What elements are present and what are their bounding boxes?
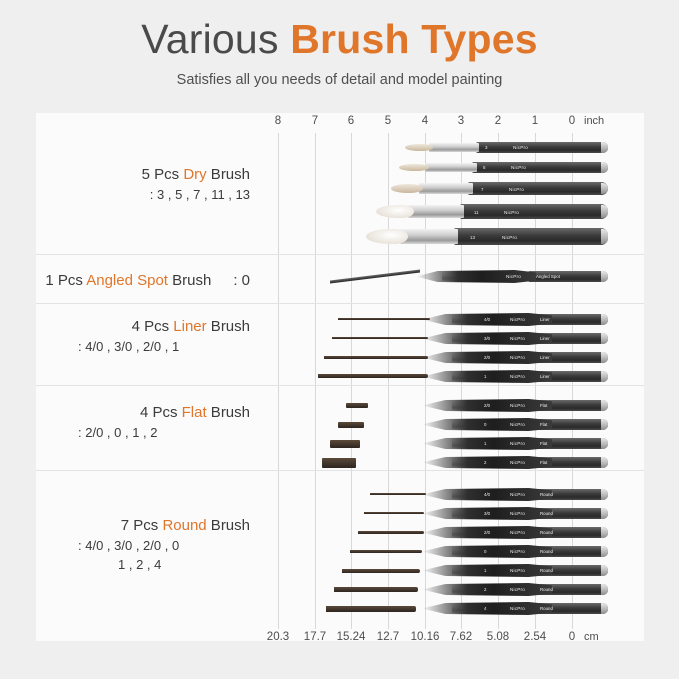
group-label-liner-line2: : 4/0 , 3/0 , 2/0 , 1 [36,337,250,356]
brush-type-tag: Round [540,587,553,592]
brush-size-tag: 2 [484,460,486,465]
brush-belly [422,437,552,450]
ruler-top-tick-0: 0 [557,115,587,127]
separator-flat-round [36,470,644,471]
page-title: Various Brush Types [0,16,679,63]
brush-tip [342,569,420,573]
brush-brand: NicPro [510,549,525,554]
brush-liner-3-0: NicPro Liner 3/0 [322,332,608,345]
brush-type-tag: Round [540,530,553,535]
brush-brand: NicPro [502,235,517,240]
brush-brand: NicPro [510,403,525,408]
ruler-top-tick-6: 6 [336,115,366,127]
brush-tip [364,512,424,514]
ruler-top-tick-3: 3 [446,115,476,127]
brush-tip [332,337,428,339]
brush-type-tag: Liner [540,317,550,322]
brush-type-tag: Liner [540,336,550,341]
group-label-dry: 5 Pcs Dry Brush : 3 , 5 , 7 , 11 , 13 [36,165,250,204]
brush-brand: NicPro [506,274,521,279]
brush-brand: NicPro [510,511,525,516]
ruler-bottom-tick-1: 2.54 [515,631,555,643]
brush-size-tag: 2 [484,587,486,592]
brush-belly [422,456,552,469]
brush-endcap [601,352,608,363]
brush-dry-11: NicPro 11 [376,204,608,220]
brush-brand: NicPro [510,530,525,535]
brush-handle [460,204,608,219]
group-label-dry-line1: 5 Pcs Dry Brush [36,165,250,185]
brush-liner-4-0: NicPro Liner 4/0 [324,313,608,326]
poster-root: Various Brush Types Satisfies all you ne… [0,0,679,679]
brush-endcap [601,527,608,538]
brush-belly [422,545,552,558]
brush-liner-1: NicPro Liner 1 [314,370,608,383]
brush-tip [318,374,428,378]
brush-belly [422,583,552,596]
brush-brand: NicPro [513,145,528,150]
brush-brand: NicPro [510,460,525,465]
brush-round-1: NicPro Round 1 [316,564,608,577]
brush-size-tag: 2/0 [484,530,490,535]
brush-dry-7: NicPro 7 [391,182,608,196]
brush-brand: NicPro [504,210,519,215]
brush-brand: NicPro [510,336,525,341]
ruler-top-unit: inch [584,115,624,127]
brush-tip [324,356,428,359]
brush-belly [422,602,552,615]
brush-round-4: NicPro Round 4 [308,602,608,615]
brush-size-tag: 3 [485,145,487,150]
brush-tip [370,493,426,495]
brush-endcap [601,205,608,218]
brush-tip [391,184,423,193]
brush-ferrule [400,229,458,244]
gridline-8in [278,133,279,629]
group-label-flat-line1: 4 Pcs Flat Brush [36,403,250,423]
brush-brand: NicPro [510,374,525,379]
brush-endcap [601,419,608,430]
brush-brand: NicPro [511,165,526,170]
brush-handle [476,142,608,153]
brush-flat-1: NicPro Flat 1 [314,437,608,450]
brush-brand: NicPro [510,606,525,611]
page-subtitle: Satisfies all you needs of detail and mo… [0,72,679,88]
brush-type-tag: Round [540,492,553,497]
brush-brand: NicPro [510,441,525,446]
brush-tip [346,403,368,408]
brush-size-tag: 11 [474,210,479,215]
brush-tip [366,229,408,244]
brush-size-tag: 3/0 [484,336,490,341]
brush-belly [422,564,552,577]
brush-chart-panel: 8 7 6 5 4 3 2 1 0 inch 20.3 17.7 15.24 1… [36,113,644,641]
brush-brand: NicPro [510,422,525,427]
brush-size-tag: 1 [484,568,486,573]
separator-angled-liner [36,303,644,304]
brush-tip [330,269,420,283]
brush-liner-2-0: NicPro Liner 2/0 [318,351,608,364]
group-label-liner: 4 Pcs Liner Brush : 4/0 , 3/0 , 2/0 , 1 [36,317,250,356]
ruler-bottom-tick-2: 5.08 [478,631,518,643]
brush-endcap [601,183,608,194]
brush-round-2-0: NicPro Round 2/0 [324,526,608,539]
brush-tip [350,550,422,553]
title-accent: Brush Types [290,16,538,62]
brush-handle [472,162,608,173]
group-label-flat: 4 Pcs Flat Brush : 2/0 , 0 , 1 , 2 [36,403,250,442]
brush-round-0: NicPro Round 0 [320,545,608,558]
brush-endcap [601,371,608,382]
brush-tip [338,318,430,320]
brush-tip [322,458,356,468]
ruler-top-tick-1: 1 [520,115,550,127]
group-label-round-line1: 7 Pcs Round Brush [36,516,250,536]
brush-endcap [601,584,608,595]
brush-endcap [601,489,608,500]
brush-ferrule [419,183,473,194]
ruler-bottom-tick-6: 15.24 [331,631,371,643]
brush-ferrule [408,205,464,218]
group-label-dry-line2: : 3 , 5 , 7 , 11 , 13 [36,185,250,204]
ruler-top-tick-7: 7 [300,115,330,127]
group-label-round-line2: : 4/0 , 3/0 , 2/0 , 0 [36,536,250,555]
brush-tip [330,440,360,448]
title-plain: Various [141,16,290,62]
brush-belly [422,370,552,383]
brush-type-tag: Flat [540,441,547,446]
brush-tip [405,144,433,151]
brush-type-tag: Round [540,511,553,516]
brush-ferrule [429,143,479,152]
brush-type-tag: Angled Spot [536,274,560,279]
brush-endcap [601,162,608,173]
brush-round-3-0: NicPro Round 3/0 [326,507,608,520]
brush-size-tag: 4/0 [484,492,490,497]
brush-type-tag: Round [540,606,553,611]
brush-type-tag: Round [540,568,553,573]
brush-brand: NicPro [510,355,525,360]
brush-endcap [601,271,608,282]
ruler-top-tick-4: 4 [410,115,440,127]
brush-size-tag: 5 [483,165,485,170]
separator-dry-angled [36,254,644,255]
brush-type-tag: Round [540,549,553,554]
group-label-angled-spot-line1: 1 Pcs Angled Spot Brush: 0 [36,271,250,291]
ruler-top-tick-2: 2 [483,115,513,127]
brush-type-tag: Liner [540,374,550,379]
group-label-angled-spot: 1 Pcs Angled Spot Brush: 0 [36,271,250,291]
brush-tip [358,531,424,534]
brush-type-tag: Liner [540,355,550,360]
group-label-round-line3: 1 , 2 , 4 [36,555,250,574]
brush-endcap [601,565,608,576]
brush-ferrule [425,163,477,172]
brush-size-tag: 4 [484,606,486,611]
group-label-flat-line2: : 2/0 , 0 , 1 , 2 [36,423,250,442]
brush-dry-3: NicPro 3 [405,141,608,154]
brush-belly [422,418,552,431]
brush-size-tag: 7 [481,187,483,192]
brush-round-4-0: NicPro Round 4/0 [328,488,608,501]
brush-endcap [601,142,608,153]
brush-tip [338,422,364,428]
group-label-liner-line1: 4 Pcs Liner Brush [36,317,250,337]
ruler-bottom-tick-8: 20.3 [258,631,298,643]
brush-endcap [601,438,608,449]
brush-size-tag: 13 [470,235,475,240]
brush-flat-2: NicPro Flat 2 [310,456,608,469]
brush-endcap [601,457,608,468]
brush-flat-0: NicPro Flat 0 [318,418,608,431]
group-label-round: 7 Pcs Round Brush : 4/0 , 3/0 , 2/0 , 0 … [36,516,250,574]
brush-size-tag: 2/0 [484,355,490,360]
ruler-bottom-tick-3: 7.62 [441,631,481,643]
ruler-top-tick-5: 5 [373,115,403,127]
ruler-bottom-tick-7: 17.7 [295,631,335,643]
brush-endcap [601,314,608,325]
brush-angled-spot-0: NicPro Angled Spot [330,270,608,283]
brush-type-tag: Flat [540,460,547,465]
brush-endcap [601,546,608,557]
ruler-top-tick-8: 8 [263,115,293,127]
brush-size-tag: 3/0 [484,511,490,516]
ruler-bottom-tick-5: 12.7 [368,631,408,643]
brush-tip [326,606,416,612]
brush-type-tag: Flat [540,403,547,408]
brush-endcap [601,603,608,614]
brush-size-tag: 1 [484,441,486,446]
brush-size-tag: 1 [484,374,486,379]
brush-handle [468,182,608,195]
brush-brand: NicPro [510,568,525,573]
brush-size-tag: 2/0 [484,403,490,408]
brush-endcap [601,333,608,344]
brush-endcap [601,508,608,519]
brush-dry-5: NicPro 5 [399,161,608,174]
brush-type-tag: Flat [540,422,547,427]
brush-flat-2-0: NicPro Flat 2/0 [322,399,608,412]
brush-brand: NicPro [509,187,524,192]
brush-size-tag: 0 [484,549,486,554]
brush-size-tag: 0 [484,422,486,427]
brush-size-tag: 4/0 [484,317,490,322]
ruler-bottom-unit: cm [584,631,624,643]
ruler-bottom-tick-4: 10.16 [405,631,445,643]
brush-tip [376,205,414,218]
brush-dry-13: NicPro 13 [366,228,608,246]
brush-tip [399,164,429,171]
brush-round-2: NicPro Round 2 [312,583,608,596]
brush-endcap [601,229,608,244]
brush-tip [334,587,418,592]
brush-brand: NicPro [510,317,525,322]
separator-liner-flat [36,385,644,386]
brush-endcap [601,400,608,411]
brush-handle [454,228,608,245]
brush-brand: NicPro [510,492,525,497]
brush-brand: NicPro [510,587,525,592]
